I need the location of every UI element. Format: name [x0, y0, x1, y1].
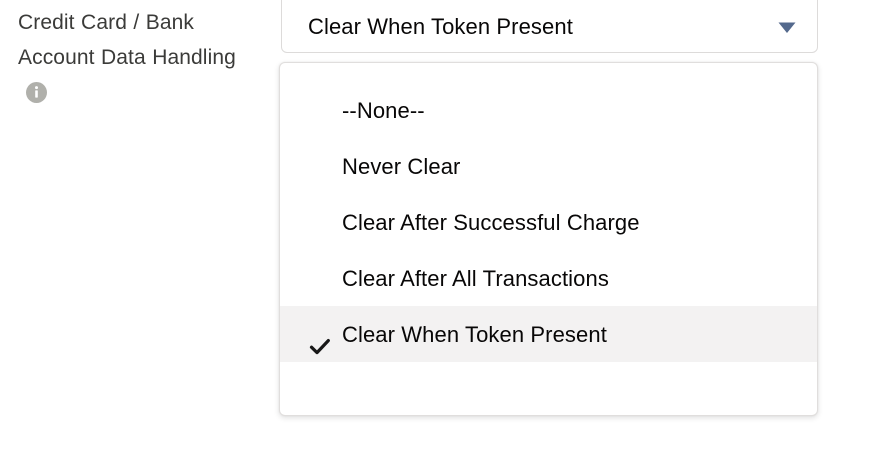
dropdown-option-selected[interactable]: Clear When Token Present	[280, 306, 817, 362]
dropdown-panel: --None-- Never Clear Clear After Success…	[279, 62, 818, 416]
combobox-button[interactable]: Clear When Token Present	[281, 0, 818, 53]
chevron-down-icon[interactable]	[775, 15, 799, 39]
dropdown-option[interactable]: Clear After Successful Charge	[280, 194, 817, 250]
dropdown-option[interactable]: --None--	[280, 82, 817, 138]
dropdown-option-list: --None-- Never Clear Clear After Success…	[280, 63, 817, 380]
info-icon[interactable]	[26, 82, 47, 103]
picklist-field-region: Credit Card / Bank Account Data Handling…	[0, 0, 880, 466]
field-label: Credit Card / Bank Account Data Handling	[18, 5, 248, 110]
combobox-selected-value: Clear When Token Present	[308, 14, 573, 40]
dropdown-option-label: Never Clear	[342, 139, 460, 195]
dropdown-option[interactable]: Never Clear	[280, 138, 817, 194]
dropdown-option-label: Clear After All Transactions	[342, 251, 609, 307]
dropdown-option-label: --None--	[342, 83, 425, 139]
dropdown-option[interactable]: Clear After All Transactions	[280, 250, 817, 306]
field-label-text: Credit Card / Bank Account Data Handling	[18, 11, 236, 69]
check-icon	[309, 323, 331, 345]
dropdown-option-label: Clear When Token Present	[342, 307, 607, 363]
dropdown-option-label: Clear After Successful Charge	[342, 195, 640, 251]
